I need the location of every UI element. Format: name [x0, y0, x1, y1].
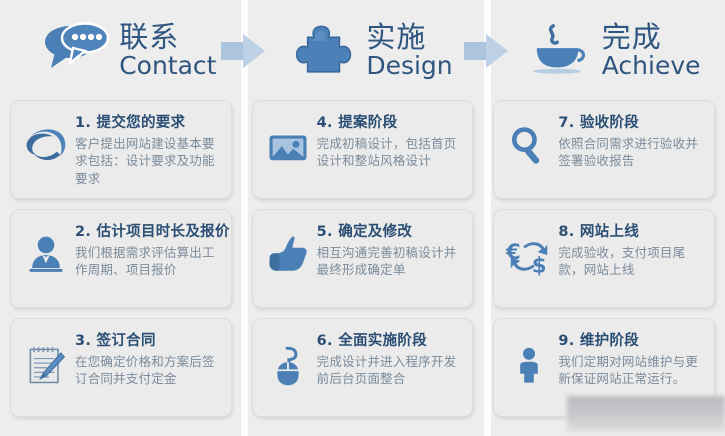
column-header-contact: 联系 Contact [10, 0, 232, 100]
step-card-1-body: 1. 提交您的要求 客户提出网站建设基本要求包括：设计要求及功能要求 [71, 111, 223, 187]
step-card-2-desc: 我们根据需求评估算出工作周期、项目报价 [75, 244, 223, 279]
magnifying-glass-icon [504, 119, 554, 175]
column-divider-1 [241, 0, 248, 436]
step-card-6[interactable]: 6. 全面实施阶段 完成设计并进入程序开发前后台页面整合 [252, 318, 474, 417]
column-header-text-achieve: 完成 Achieve [602, 23, 701, 78]
step-card-1-title: 1. 提交您的要求 [75, 114, 223, 132]
step-card-9-title: 9. 维护阶段 [558, 332, 706, 350]
internet-explorer-icon [21, 119, 71, 175]
column-header-text-contact: 联系 Contact [119, 23, 216, 78]
cards-achieve: 7. 验收阶段 依照合同需求进行验收并签署验收报告 € $ [493, 100, 715, 417]
column-design: 实施 Design [242, 0, 484, 436]
step-card-6-desc: 完成设计并进入程序开发前后台页面整合 [317, 353, 465, 388]
column-header-achieve: 完成 Achieve [493, 0, 715, 100]
step-card-6-body: 6. 全面实施阶段 完成设计并进入程序开发前后台页面整合 [313, 329, 465, 388]
businessman-icon [21, 228, 71, 284]
column-title-en: Achieve [602, 53, 701, 78]
column-title-cn: 联系 [119, 23, 179, 52]
redaction-overlay [567, 396, 725, 432]
column-title-en: Contact [119, 53, 216, 78]
step-card-2-title: 2. 估计项目时长及报价 [75, 223, 223, 241]
column-title-cn: 实施 [366, 23, 426, 52]
step-card-4[interactable]: 4. 提案阶段 完成初稿设计，包括首页设计和整站风格设计 [252, 100, 474, 199]
step-card-3-title: 3. 签订合同 [75, 332, 223, 350]
column-title-en: Design [366, 53, 452, 78]
column-achieve: 完成 Achieve 7. 验收阶段 依照合同需求进行验收并签署验收报 [483, 0, 725, 436]
coffee-cup-icon [526, 19, 594, 81]
step-card-7-body: 7. 验收阶段 依照合同需求进行验收并签署验收报告 [554, 111, 706, 170]
currency-exchange-icon: € $ [504, 228, 554, 284]
step-card-2[interactable]: 2. 估计项目时长及报价 我们根据需求评估算出工作周期、项目报价 [10, 209, 232, 308]
step-card-4-desc: 完成初稿设计，包括首页设计和整站风格设计 [317, 135, 465, 170]
step-card-1[interactable]: 1. 提交您的要求 客户提出网站建设基本要求包括：设计要求及功能要求 [10, 100, 232, 199]
step-card-5-title: 5. 确定及修改 [317, 223, 465, 241]
step-card-8[interactable]: € $ 8. 网站上线 完成验收，支付项目尾款，网站上线 [493, 209, 715, 308]
step-card-3[interactable]: 3. 签订合同 在您确定价格和方案后签订合同并支付定金 [10, 318, 232, 417]
columns-container: 联系 Contact 1. 提交您的要求 [0, 0, 725, 436]
step-card-1-desc: 客户提出网站建设基本要求包括：设计要求及功能要求 [75, 135, 223, 187]
image-picture-icon [263, 119, 313, 175]
column-title-cn: 完成 [602, 23, 662, 52]
step-card-2-body: 2. 估计项目时长及报价 我们根据需求评估算出工作周期、项目报价 [71, 220, 223, 279]
notepad-pen-icon [21, 337, 71, 393]
step-card-4-title: 4. 提案阶段 [317, 114, 465, 132]
step-card-7-desc: 依照合同需求进行验收并签署验收报告 [558, 135, 706, 170]
step-card-8-title: 8. 网站上线 [558, 223, 706, 241]
speech-bubbles-icon [43, 19, 111, 81]
svg-text:$: $ [532, 252, 547, 277]
puzzle-piece-icon [290, 19, 358, 81]
process-flow-infographic: 联系 Contact 1. 提交您的要求 [0, 0, 725, 436]
column-divider-2 [484, 0, 491, 436]
computer-mouse-icon [263, 337, 313, 393]
step-card-4-body: 4. 提案阶段 完成初稿设计，包括首页设计和整站风格设计 [313, 111, 465, 170]
cards-contact: 1. 提交您的要求 客户提出网站建设基本要求包括：设计要求及功能要求 [10, 100, 232, 417]
column-contact: 联系 Contact 1. 提交您的要求 [0, 0, 242, 436]
step-card-6-title: 6. 全面实施阶段 [317, 332, 465, 350]
step-card-5-desc: 相互沟通完善初稿设计并最终形成确定单 [317, 244, 465, 279]
step-card-3-body: 3. 签订合同 在您确定价格和方案后签订合同并支付定金 [71, 329, 223, 388]
step-card-8-body: 8. 网站上线 完成验收，支付项目尾款，网站上线 [554, 220, 706, 279]
step-card-9-body: 9. 维护阶段 我们定期对网站维护与更新保证网站正常运行。 [554, 329, 706, 388]
step-card-9-desc: 我们定期对网站维护与更新保证网站正常运行。 [558, 353, 706, 388]
step-card-5-body: 5. 确定及修改 相互沟通完善初稿设计并最终形成确定单 [313, 220, 465, 279]
cards-design: 4. 提案阶段 完成初稿设计，包括首页设计和整站风格设计 5. 确定及修改 [252, 100, 474, 417]
thumbs-up-icon [263, 228, 313, 284]
step-card-7-title: 7. 验收阶段 [558, 114, 706, 132]
person-silhouette-icon [504, 337, 554, 393]
column-header-text-design: 实施 Design [366, 23, 452, 78]
column-header-design: 实施 Design [252, 0, 474, 100]
step-card-8-desc: 完成验收，支付项目尾款，网站上线 [558, 244, 706, 279]
step-card-3-desc: 在您确定价格和方案后签订合同并支付定金 [75, 353, 223, 388]
step-card-5[interactable]: 5. 确定及修改 相互沟通完善初稿设计并最终形成确定单 [252, 209, 474, 308]
step-card-7[interactable]: 7. 验收阶段 依照合同需求进行验收并签署验收报告 [493, 100, 715, 199]
